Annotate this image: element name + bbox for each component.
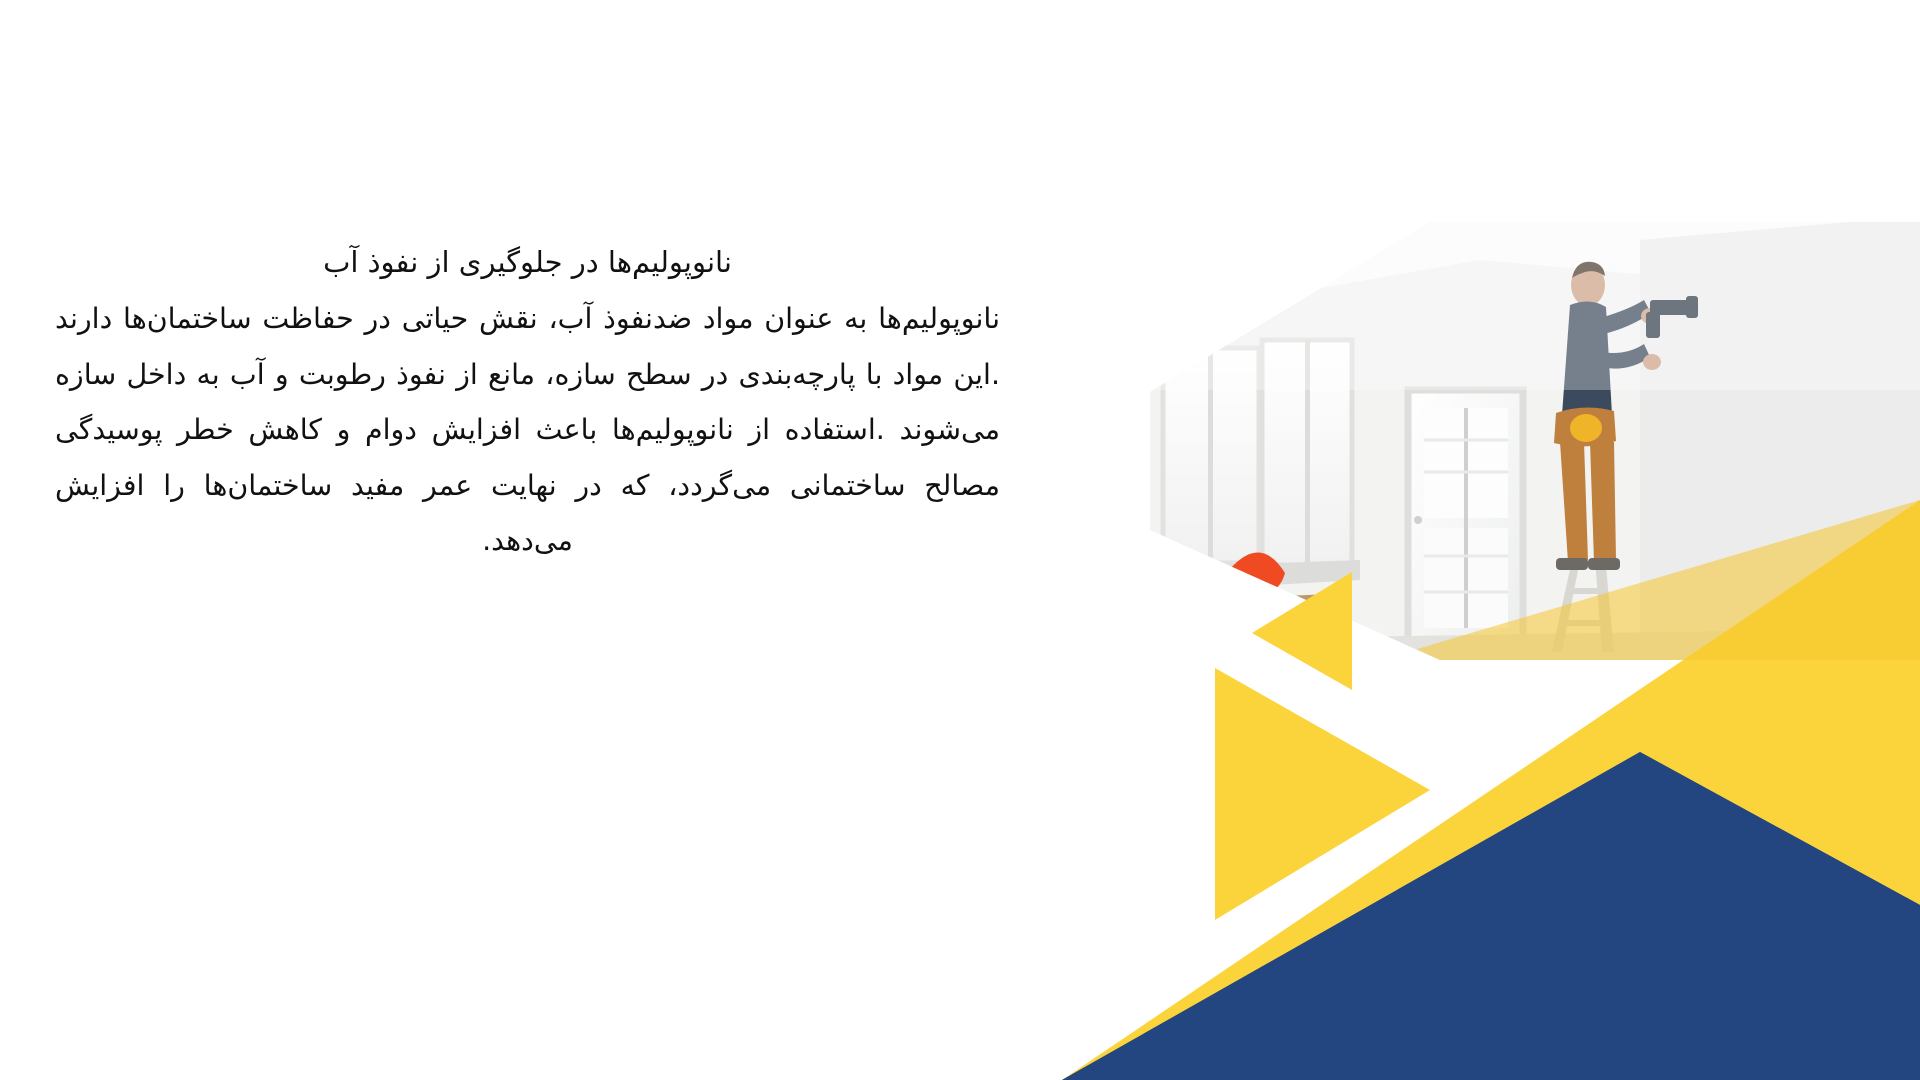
slide-heading: نانوپولیم‌ها در جلوگیری از نفوذ آب (55, 240, 1000, 285)
photo-bench-group (1186, 552, 1330, 672)
slide-canvas: نانوپولیم‌ها در جلوگیری از نفوذ آب نانوپ… (0, 0, 1920, 1080)
small-yellow-triangle (1252, 572, 1352, 690)
large-yellow-triangle (1215, 668, 1430, 920)
photo-ladder (1552, 545, 1614, 652)
worker-photo (1140, 210, 1920, 672)
navy-wedge-fill (1062, 752, 1920, 1080)
text-column: نانوپولیم‌ها در جلوگیری از نفوذ آب نانوپ… (55, 240, 1000, 569)
navy-wedge (1062, 752, 1920, 1080)
yellow-wedge (1062, 500, 1920, 1080)
photo-window-group (1150, 340, 1360, 592)
body-paragraph: نانوپولیم‌ها به عنوان مواد ضدنفوذ آب، نق… (55, 291, 1000, 569)
photo-door-group (1408, 390, 1523, 648)
photo-worker (1554, 262, 1698, 570)
yellow-wedge-photo-overlap (1380, 500, 1920, 660)
